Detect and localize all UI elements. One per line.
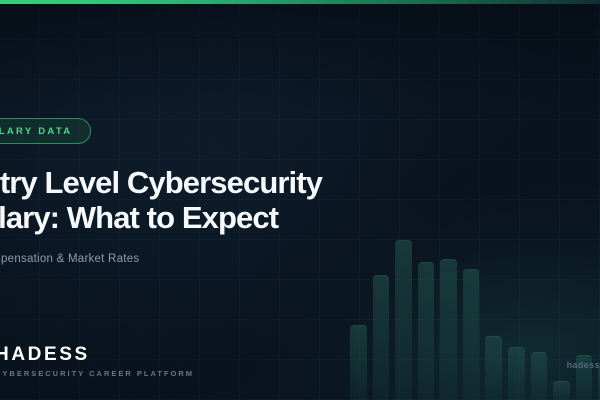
chart-bar	[440, 259, 457, 400]
brand-tagline: CYBERSECURITY CAREER PLATFORM	[0, 369, 194, 378]
top-accent-bar	[0, 0, 600, 4]
page-subtitle: Compensation & Market Rates	[0, 253, 139, 265]
brand-lockup: HADESS CYBERSECURITY CAREER PLATFORM	[0, 344, 194, 378]
page-title-line-1: Entry Level Cybersecurity	[0, 165, 322, 200]
salary-data-badge: SALARY DATA	[0, 118, 91, 144]
chart-bar	[463, 269, 480, 400]
chart-bar	[508, 347, 525, 400]
page-title-line-2: Salary: What to Expect	[0, 201, 392, 236]
subtitle-row: Compensation & Market Rates	[0, 253, 392, 265]
chart-bar	[553, 381, 570, 400]
chart-bar	[531, 352, 548, 400]
chart-bar	[350, 325, 367, 400]
chart-watermark: hadess	[567, 360, 600, 370]
chart-bar	[373, 275, 390, 400]
page-title: Entry Level Cybersecurity Salary: What t…	[0, 166, 392, 235]
brand-name: HADESS	[0, 344, 194, 366]
slide-canvas: hadess SALARY DATA Entry Level Cybersecu…	[0, 0, 600, 400]
chart-bar	[395, 240, 412, 400]
hero-content: SALARY DATA Entry Level Cybersecurity Sa…	[0, 118, 392, 265]
chart-bar	[485, 336, 502, 400]
chart-bar	[418, 262, 435, 400]
